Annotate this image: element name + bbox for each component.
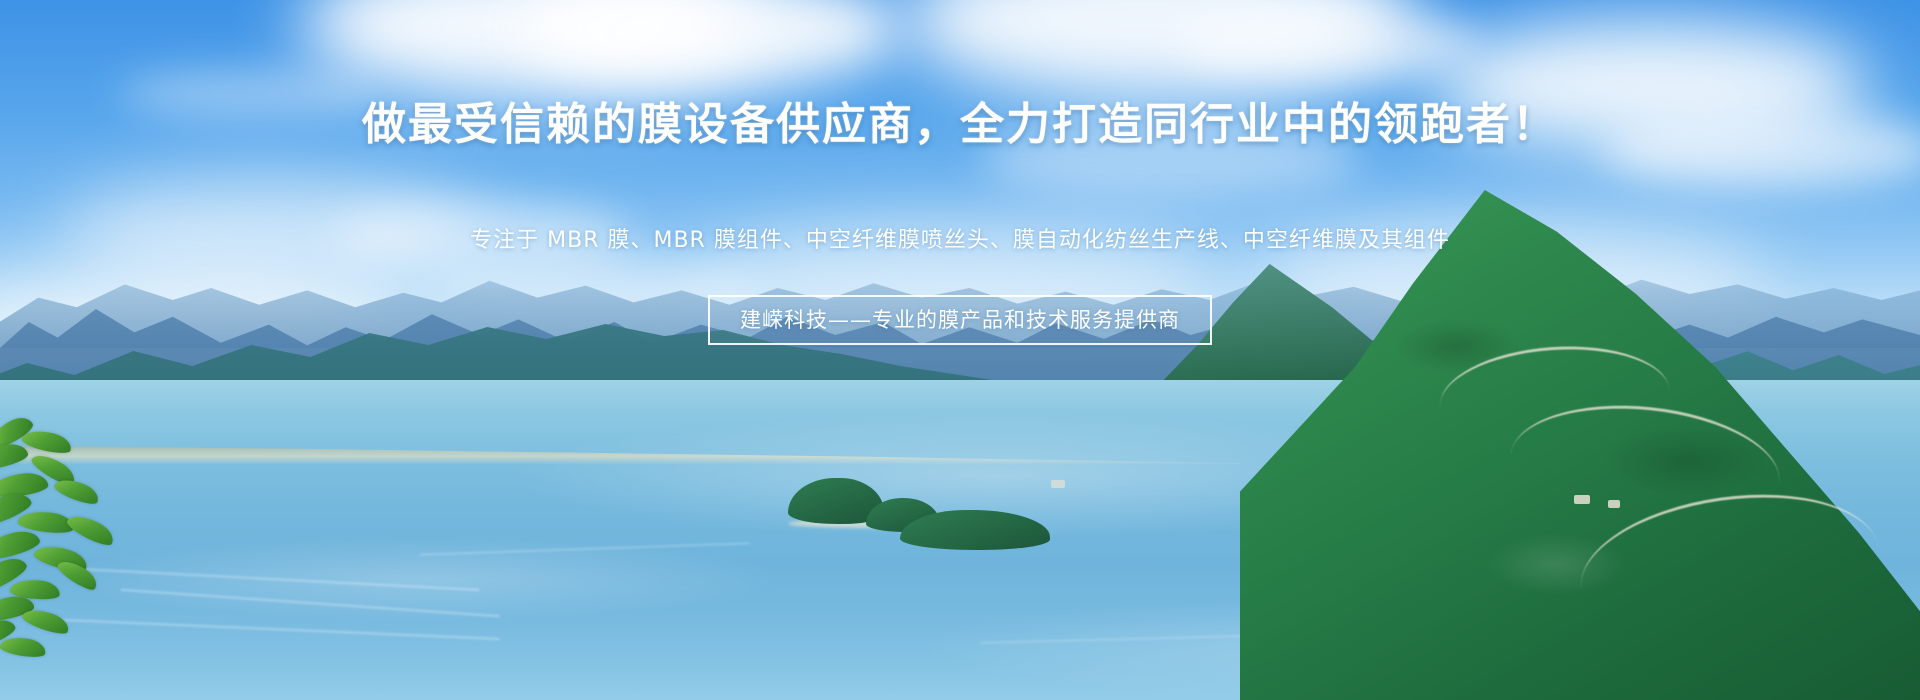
banner-headline: 做最受信赖的膜设备供应商，全力打造同行业中的领跑者！: [0, 100, 1920, 149]
foreground-foliage: [0, 416, 160, 656]
lakeside-building: [1051, 480, 1065, 488]
banner-tagline-box: 建嵘科技——专业的膜产品和技术服务提供商: [708, 295, 1212, 345]
roadside-building-b: [1608, 500, 1620, 508]
banner-subheadline: 专注于 MBR 膜、MBR 膜组件、中空纤维膜喷丝头、膜自动化纺丝生产线、中空纤…: [0, 227, 1920, 256]
roadside-building-a: [1574, 495, 1590, 504]
hero-banner: 做最受信赖的膜设备供应商，全力打造同行业中的领跑者！ 专注于 MBR 膜、MBR…: [0, 0, 1920, 700]
